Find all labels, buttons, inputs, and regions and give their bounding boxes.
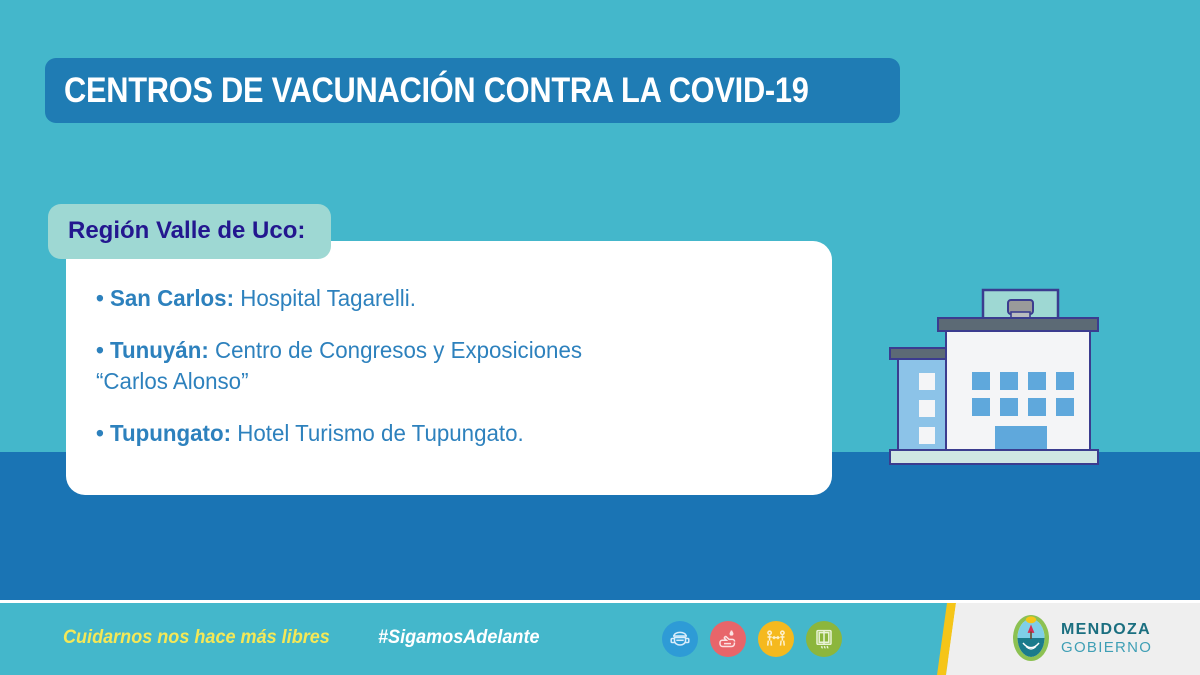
list-bullet: • — [96, 420, 104, 446]
venue-name: Hospital Tagarelli. — [240, 285, 416, 311]
footer-slogan: Cuidarnos nos hace más libres — [63, 627, 330, 649]
care-measures-icon-group — [662, 621, 842, 657]
region-label: Región Valle de Uco: — [68, 217, 305, 244]
hospital-icon — [880, 280, 1120, 500]
diagonal-stripe-icon — [925, 603, 971, 675]
locality-name: Tupungato: — [110, 420, 231, 446]
list-item: • Tunuyán: Centro de Congresos y Exposic… — [96, 335, 796, 396]
infographic-slide: CENTROS DE VACUNACIÓN CONTRA LA COVID-19… — [0, 0, 1200, 675]
government-name-secondary: GOBIERNO — [1061, 640, 1152, 655]
vaccination-center-list: • San Carlos: Hospital Tagarelli. • Tunu… — [96, 283, 796, 448]
page-title-bar: CENTROS DE VACUNACIÓN CONTRA LA COVID-19 — [45, 58, 900, 123]
venue-name: Centro de Congresos y Exposiciones — [215, 337, 582, 363]
list-bullet: • — [96, 285, 104, 311]
social-distancing-icon — [758, 621, 794, 657]
list-bullet: • — [96, 337, 104, 363]
list-item: • San Carlos: Hospital Tagarelli. — [96, 283, 796, 313]
footer-hashtag: #SigamosAdelante — [378, 627, 540, 649]
hand-washing-icon — [710, 621, 746, 657]
page-title: CENTROS DE VACUNACIÓN CONTRA LA COVID-19 — [64, 71, 809, 111]
government-name-primary: MENDOZA — [1061, 622, 1152, 638]
government-logo: MENDOZA GOBIERNO — [1010, 612, 1152, 664]
ventilation-window-icon — [806, 621, 842, 657]
locality-name: San Carlos: — [110, 285, 234, 311]
hospital-illustration — [880, 280, 1120, 500]
list-item: • Tupungato: Hotel Turismo de Tupungato. — [96, 418, 796, 448]
venue-name: Hotel Turismo de Tupungato. — [237, 420, 523, 446]
face-mask-icon — [662, 621, 698, 657]
venue-name-continuation: “Carlos Alonso” — [96, 366, 775, 396]
mendoza-coat-of-arms-icon — [1010, 612, 1052, 664]
government-wordmark: MENDOZA GOBIERNO — [1061, 622, 1152, 655]
footer-accent-stripe — [925, 603, 971, 675]
locality-name: Tunuyán: — [110, 337, 209, 363]
region-badge: Región Valle de Uco: — [48, 204, 331, 259]
